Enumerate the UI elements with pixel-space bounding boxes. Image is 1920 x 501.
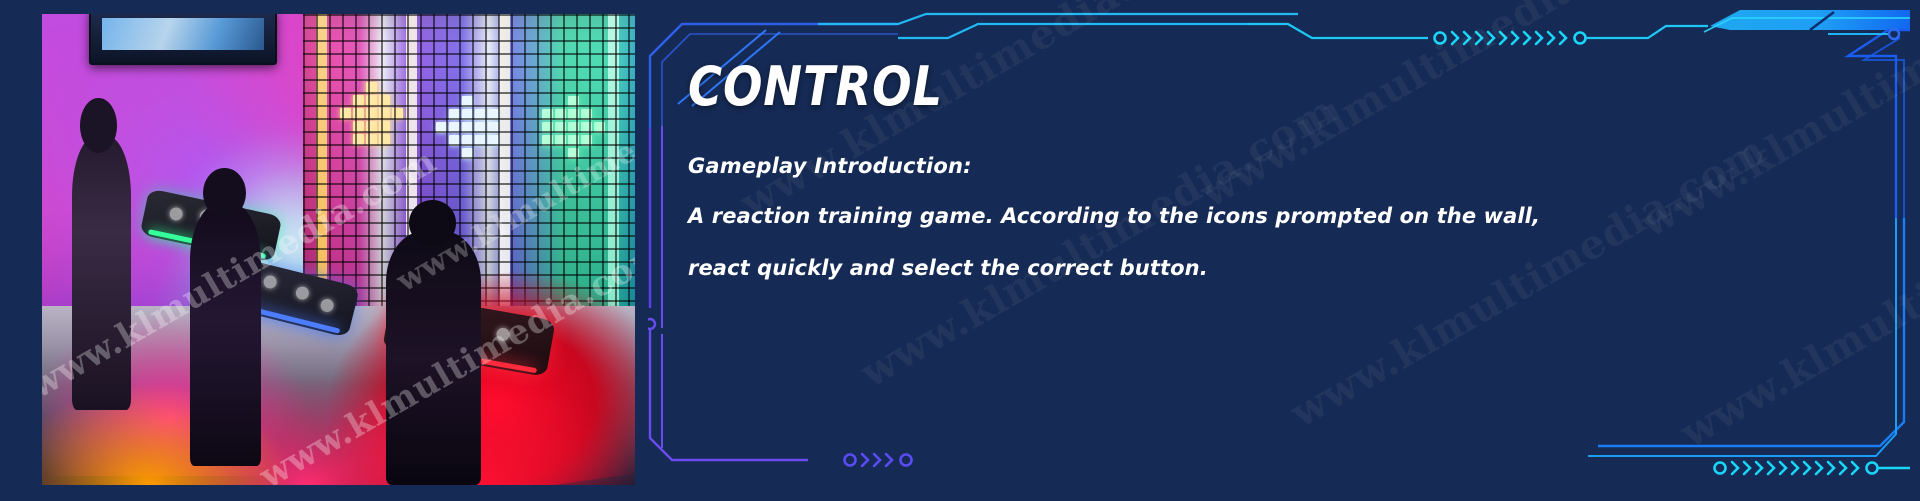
info-panel: www.klmultimedia.com www.klmultimedia.co… bbox=[648, 8, 1910, 493]
left-mid-node-icon bbox=[648, 319, 655, 329]
page-title: CONTROL bbox=[688, 60, 1445, 114]
player-silhouette bbox=[72, 136, 131, 409]
description-line-2: react quickly and select the correct but… bbox=[688, 256, 1568, 280]
bottom-left-ornament bbox=[845, 454, 912, 466]
monitor-screen bbox=[102, 18, 264, 50]
description-line-1: A reaction training game. According to t… bbox=[688, 204, 1568, 228]
subtitle: Gameplay Introduction: bbox=[688, 154, 1568, 178]
bottom-center-ornament bbox=[1715, 462, 1878, 474]
wall-monitor bbox=[89, 14, 277, 65]
slide-root: www.klmultimedia.com www.klmultimedia.co… bbox=[0, 0, 1920, 501]
game-photo: www.klmultimedia.com www.klmultimedia.co… bbox=[42, 14, 635, 485]
player-silhouette bbox=[190, 202, 261, 466]
top-center-ornament bbox=[1435, 32, 1586, 44]
photo-scene: www.klmultimedia.com www.klmultimedia.co… bbox=[42, 14, 635, 485]
panel-content: CONTROL Gameplay Introduction: A reactio… bbox=[688, 60, 1568, 308]
player-silhouette bbox=[386, 231, 481, 485]
